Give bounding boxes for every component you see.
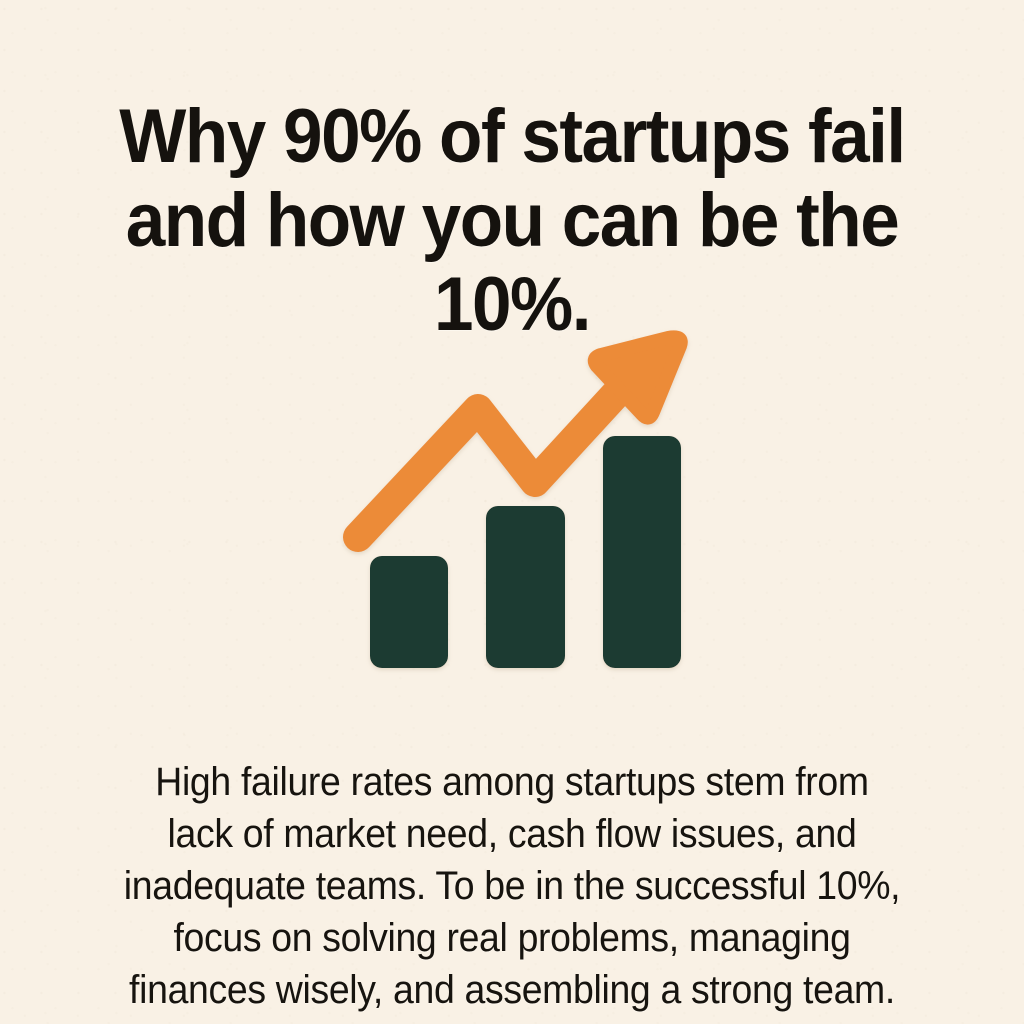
infographic-poster: Why 90% of startups fail and how you can… — [0, 0, 1024, 1024]
bar-1 — [370, 556, 448, 668]
body-paragraph: High failure rates among startups stem f… — [33, 756, 990, 1016]
bar-2 — [486, 506, 565, 668]
page-title: Why 90% of startups fail and how you can… — [33, 95, 990, 347]
growth-chart-illustration — [0, 318, 1024, 684]
bar-3 — [603, 436, 681, 668]
